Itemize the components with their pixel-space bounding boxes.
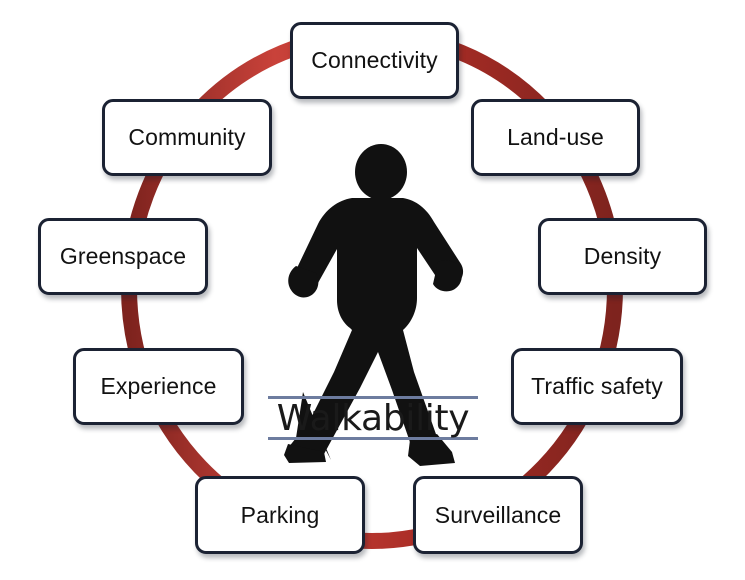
node-parking[interactable]: Parking bbox=[195, 476, 365, 554]
node-label-community: Community bbox=[128, 126, 245, 149]
node-label-density: Density bbox=[584, 245, 661, 268]
node-traffic-safety[interactable]: Traffic safety bbox=[511, 348, 683, 425]
node-land-use[interactable]: Land-use bbox=[471, 99, 640, 176]
node-label-parking: Parking bbox=[241, 504, 320, 527]
node-surveillance[interactable]: Surveillance bbox=[413, 476, 583, 554]
node-label-land-use: Land-use bbox=[507, 126, 604, 149]
center-caption: Walkability bbox=[268, 396, 478, 440]
node-community[interactable]: Community bbox=[102, 99, 272, 176]
node-label-experience: Experience bbox=[100, 375, 216, 398]
node-label-traffic-safety: Traffic safety bbox=[531, 375, 663, 398]
node-greenspace[interactable]: Greenspace bbox=[38, 218, 208, 295]
node-connectivity[interactable]: Connectivity bbox=[290, 22, 459, 99]
node-density[interactable]: Density bbox=[538, 218, 707, 295]
node-label-connectivity: Connectivity bbox=[311, 49, 437, 72]
node-label-greenspace: Greenspace bbox=[60, 245, 186, 268]
walkability-diagram: Connectivity Land-use Density Traffic sa… bbox=[0, 0, 745, 580]
node-experience[interactable]: Experience bbox=[73, 348, 244, 425]
center-caption-text: Walkability bbox=[268, 400, 478, 437]
node-label-surveillance: Surveillance bbox=[435, 504, 562, 527]
